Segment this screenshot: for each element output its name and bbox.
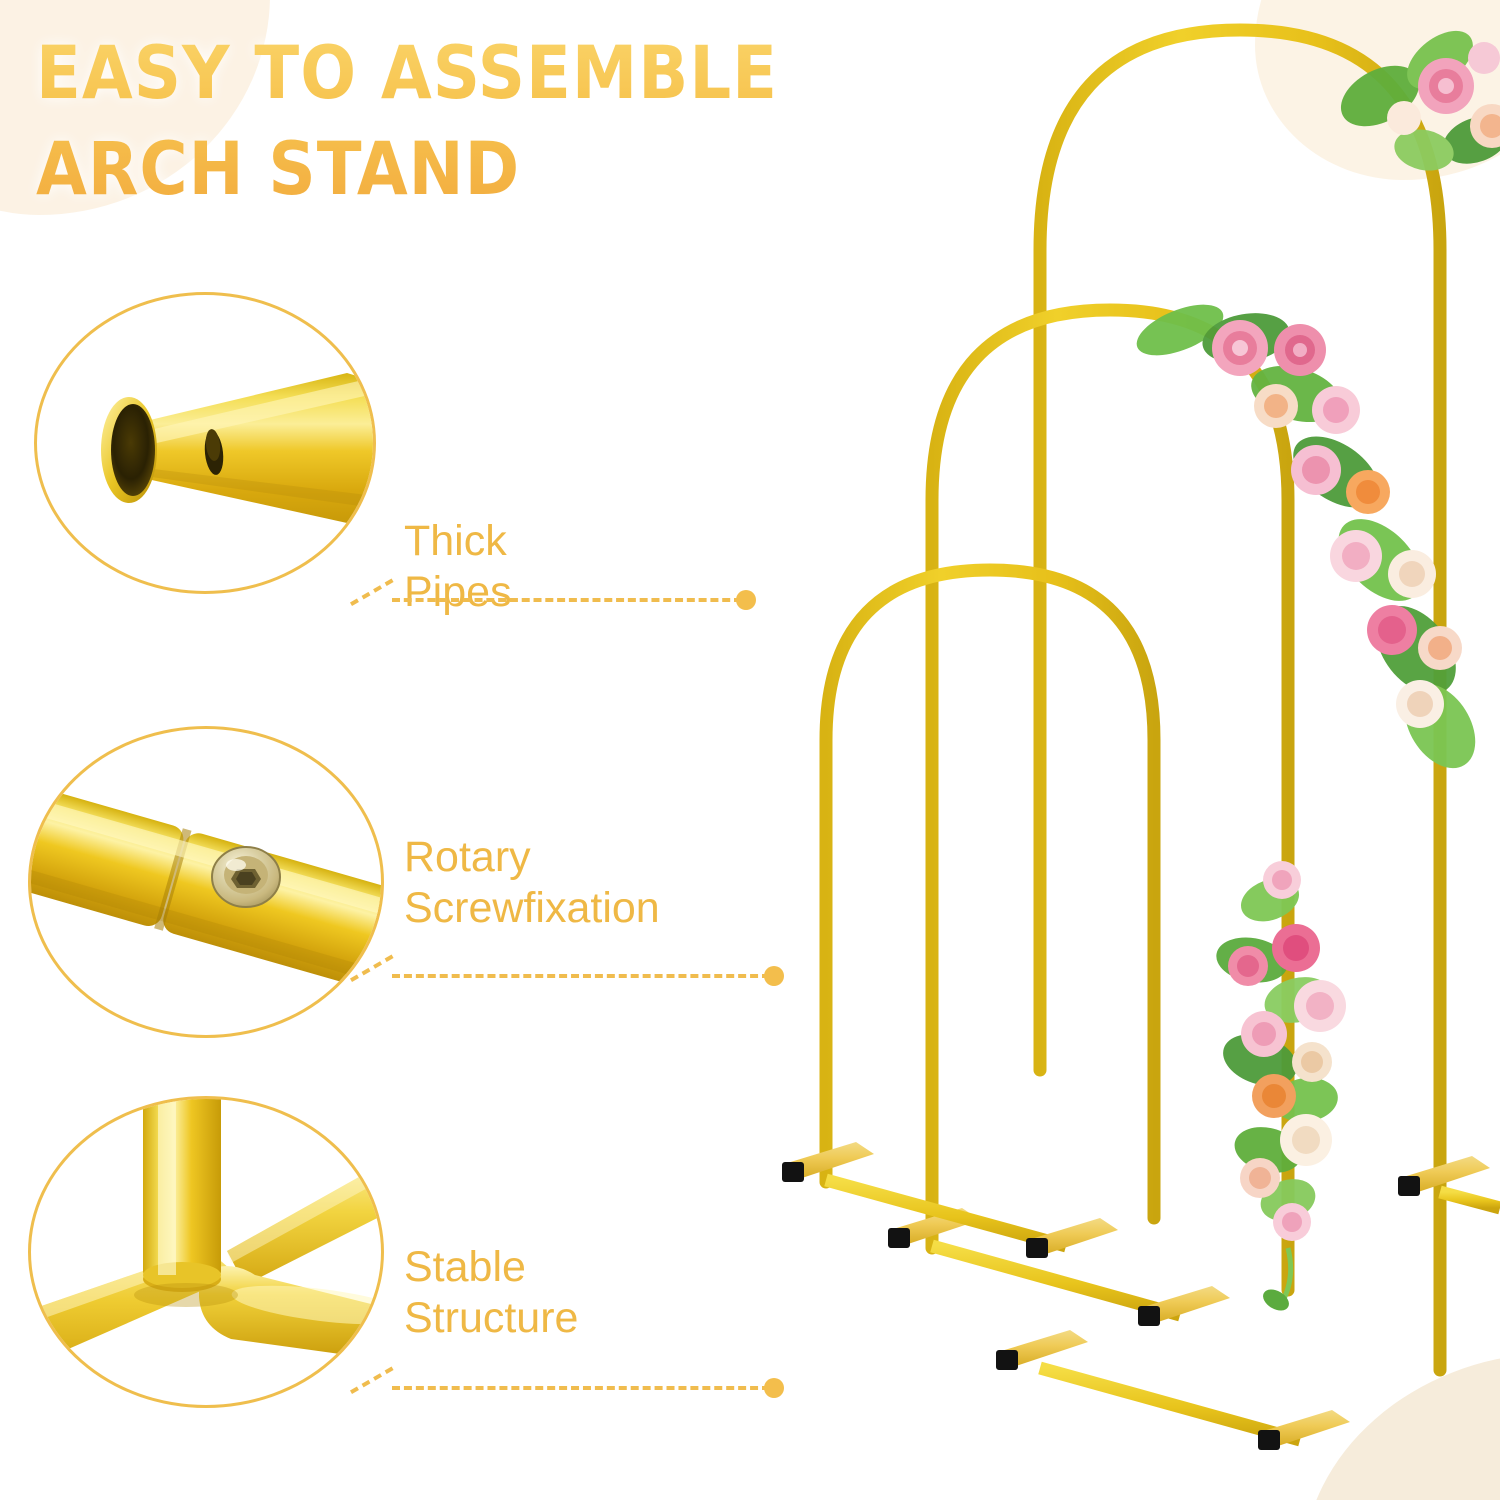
- floral-cluster-swag: [1213, 861, 1346, 1315]
- feature-image-thick-pipes: [34, 292, 376, 594]
- feature-label-stable-structure: Stable Structure: [404, 1242, 578, 1343]
- arch-large-right-rail: [1398, 1156, 1500, 1208]
- headline-line-1: EASY TO ASSEMBLE: [36, 31, 778, 116]
- arch-small: [826, 570, 1154, 1218]
- feature-label-thick-pipes: Thick Pipes: [404, 516, 512, 617]
- screw-joint-photo: [31, 729, 381, 1035]
- connector-line: [392, 974, 770, 978]
- feature-label-rotary-screwfixation: Rotary Screwfixation: [404, 832, 660, 933]
- connector-line: [392, 1386, 770, 1390]
- product-marketing-image: EASY TO ASSEMBLE ARCH STAND: [0, 0, 1500, 1500]
- arch-small-base: [782, 1142, 1118, 1258]
- product-illustration: [740, 0, 1500, 1500]
- arch-stand-set: [740, 0, 1500, 1500]
- feature-image-stable-structure: [28, 1096, 384, 1408]
- feature-image-rotary-screwfixation: [28, 726, 384, 1038]
- arch-medium: [932, 310, 1288, 1290]
- connector-line: [392, 598, 742, 602]
- arch-large: [1040, 30, 1440, 1370]
- arch-medium-base: [888, 1208, 1230, 1326]
- arch-large-base: [996, 1330, 1350, 1450]
- base-joint-photo: [31, 1099, 381, 1405]
- floral-cluster-top: [1331, 19, 1500, 176]
- pipe-photo: [37, 295, 373, 591]
